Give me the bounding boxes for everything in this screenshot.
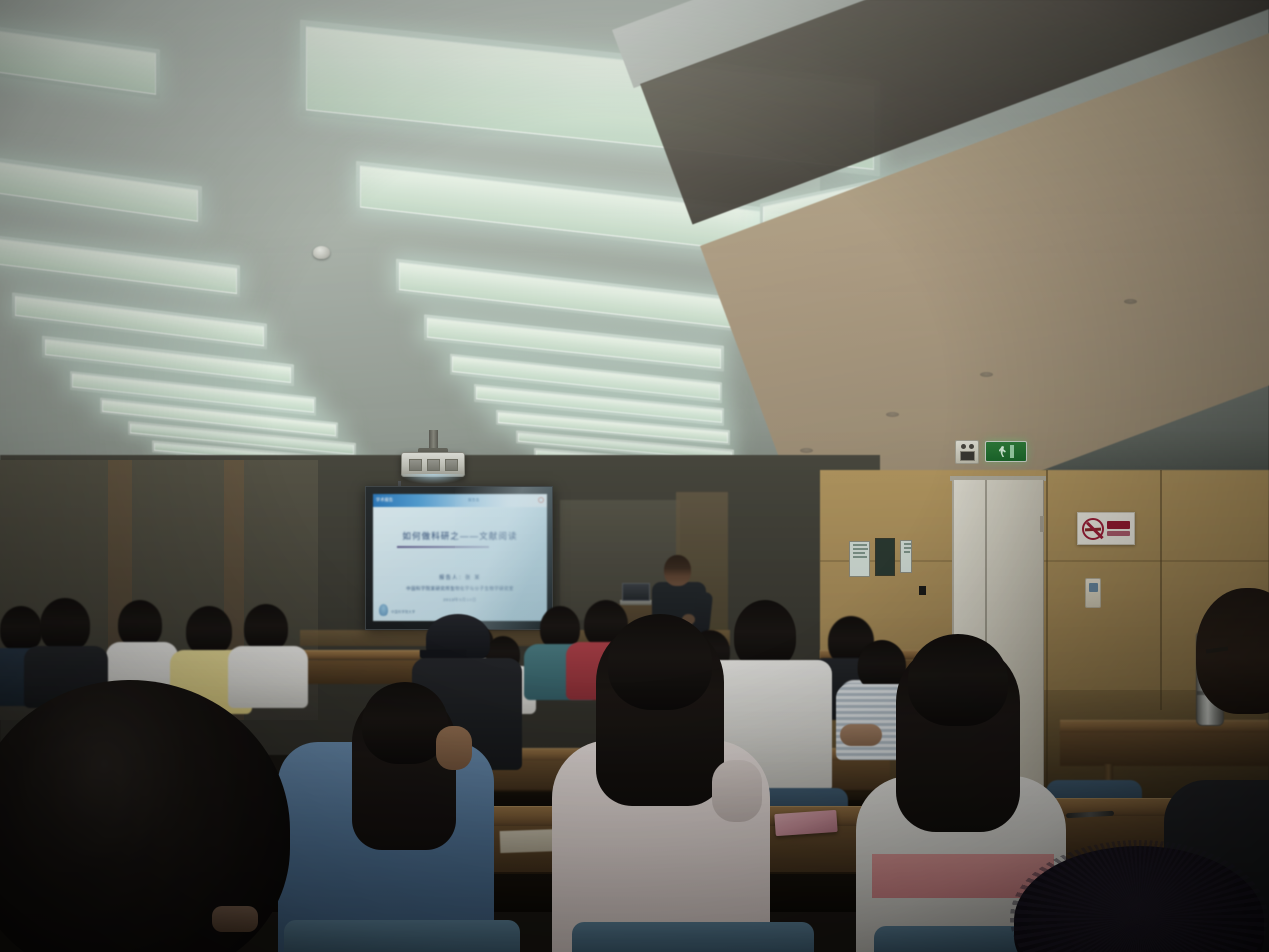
chair	[284, 920, 520, 952]
no-smoking-icon	[1082, 518, 1104, 540]
slide-header-bar	[373, 494, 547, 507]
exit-sign	[985, 441, 1027, 462]
notebook[interactable]	[774, 810, 837, 836]
light-switch[interactable]	[1085, 578, 1101, 608]
slide-affiliation-line: 中国科学院某研究所生物化学与分子生物学研究室	[373, 586, 547, 592]
no-smoking-label	[1107, 521, 1130, 529]
foreground-ear	[212, 906, 258, 932]
attendee-arm	[712, 760, 762, 822]
attendee-head	[608, 614, 712, 710]
chair	[572, 922, 814, 952]
attendee-arm	[840, 724, 882, 746]
wall-notice	[875, 538, 895, 576]
wall-notice	[849, 541, 870, 577]
exit-door-icon	[1010, 445, 1014, 458]
slide-surface: 学术报告 报告会 如何做科研之——文献阅读 报告人：张 某 中国科学院某研究所生…	[373, 494, 547, 621]
door-hinge	[1040, 516, 1044, 532]
slide-header-left-text: 学术报告	[376, 497, 393, 503]
attendee-head	[908, 634, 1008, 726]
ceiling	[0, 0, 1269, 500]
projection-screen: 学术报告 报告会 如何做科研之——文献阅读 报告人：张 某 中国科学院某研究所生…	[365, 486, 553, 630]
slide-corner-mark	[538, 497, 544, 503]
wall-seam	[1160, 470, 1162, 710]
smoke-detector-icon	[313, 246, 330, 259]
downlight-icon	[980, 372, 993, 377]
attendee-head	[244, 604, 288, 652]
desk-front	[300, 660, 420, 684]
wall-notice	[900, 540, 912, 573]
projector-beam	[400, 474, 466, 484]
downlight-icon	[886, 412, 899, 417]
foreground-head	[1014, 846, 1264, 952]
no-smoking-subtext	[1107, 531, 1130, 536]
attendee-torso	[228, 646, 308, 708]
presenter	[664, 555, 691, 586]
slide-title-rule	[397, 546, 489, 548]
attendee-hand	[436, 726, 472, 770]
downlight-icon	[1124, 299, 1137, 304]
desk-front	[1060, 732, 1269, 766]
no-smoking-sign	[1077, 512, 1135, 545]
attendee-head	[186, 606, 232, 656]
running-man-icon	[999, 446, 1008, 457]
wall-outlet	[919, 586, 926, 595]
downlight-icon	[800, 448, 813, 453]
slide-header-right-text: 报告会	[468, 498, 480, 503]
slide-presenter-line: 报告人：张 某	[373, 574, 547, 581]
desk	[300, 650, 420, 660]
alarm-panel[interactable]	[955, 440, 979, 464]
slide-date-line: 2013年5月10日	[373, 597, 547, 603]
attendee-head	[118, 600, 162, 648]
slide-logo-icon	[379, 604, 388, 616]
slide-footer-text: 中国科学院大学	[391, 609, 415, 614]
attendee-head	[40, 598, 90, 652]
photo-scene: 学术报告 报告会 如何做科研之——文献阅读 报告人：张 某 中国科学院某研究所生…	[0, 0, 1269, 952]
slide-title: 如何做科研之——文献阅读	[373, 530, 547, 542]
laptop	[622, 583, 650, 601]
